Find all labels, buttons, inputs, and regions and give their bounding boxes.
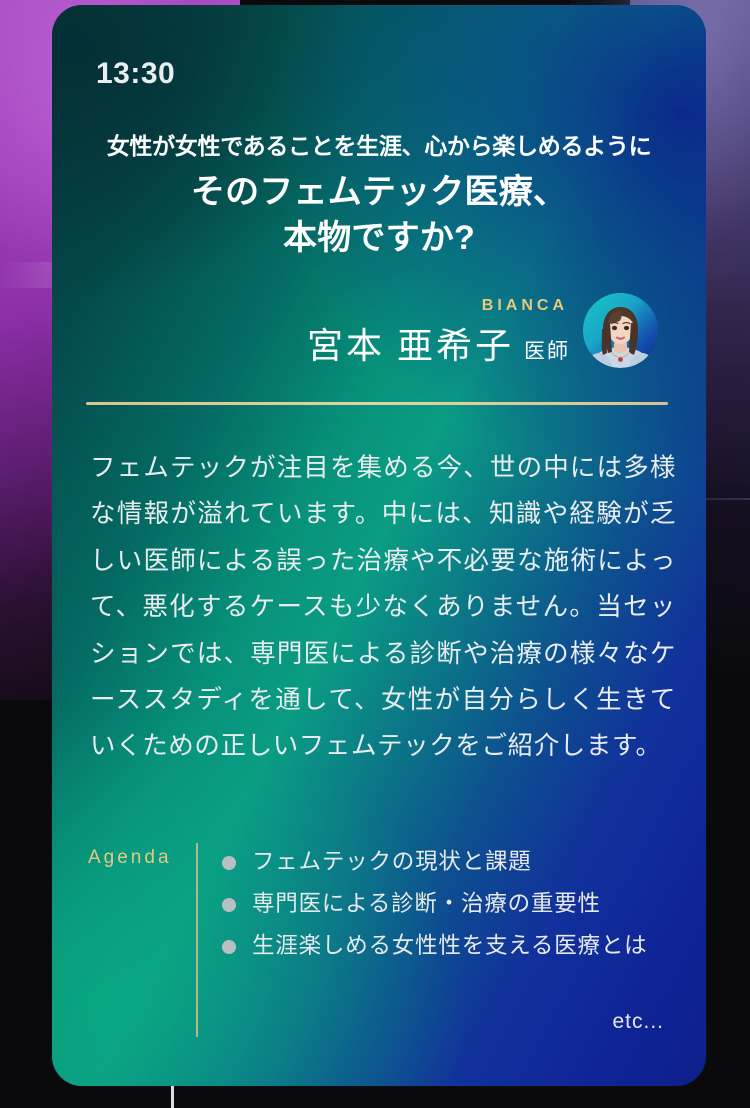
avatar-portrait-icon	[583, 293, 658, 368]
agenda-item-label: 専門医による診断・治療の重要性	[252, 883, 692, 925]
session-card-content: 13:30 女性が女性であることを生涯、心から楽しめるように そのフェムテック医…	[52, 5, 706, 1086]
session-subtitle: 女性が女性であることを生涯、心から楽しめるように	[52, 127, 706, 161]
speaker-name-row: 宮本 亜希子 医師	[307, 317, 570, 369]
session-card[interactable]: 13:30 女性が女性であることを生涯、心から楽しめるように そのフェムテック医…	[52, 5, 706, 1086]
session-description: フェムテックが注目を集める今、世の中には多様な情報が溢れています。中には、知識や…	[90, 445, 676, 770]
session-card-page: 13:30 女性が女性であることを生涯、心から楽しめるように そのフェムテック医…	[0, 0, 750, 1108]
gold-divider	[86, 402, 668, 405]
bullet-icon	[222, 898, 236, 912]
agenda-label: Agenda	[88, 847, 172, 869]
session-title-line-2: 本物ですか?	[52, 215, 706, 261]
agenda-etc: etc...	[612, 1010, 664, 1034]
agenda-vertical-rule	[196, 843, 198, 1037]
avatar	[583, 293, 658, 368]
agenda-item-label: フェムテックの現状と課題	[252, 841, 692, 883]
agenda-list: フェムテックの現状と課題 専門医による診断・治療の重要性 生涯楽しめる女性性を支…	[222, 841, 692, 967]
session-time: 13:30	[96, 57, 175, 91]
session-title: そのフェムテック医療、 本物ですか?	[52, 169, 706, 261]
list-item: 専門医による診断・治療の重要性	[222, 883, 692, 925]
session-title-line-1: そのフェムテック医療、	[191, 173, 567, 211]
bullet-icon	[222, 856, 236, 870]
bullet-icon	[222, 940, 236, 954]
speaker-role: 医師	[524, 335, 570, 365]
list-item: 生涯楽しめる女性性を支える医療とは	[222, 925, 692, 967]
timeline-tick	[171, 1086, 174, 1108]
speaker-block: BIANCA 宮本 亜希子 医師	[92, 293, 666, 373]
agenda-item-label: 生涯楽しめる女性性を支える医療とは	[252, 925, 692, 967]
speaker-name: 宮本 亜希子	[307, 317, 514, 369]
speaker-brand: BIANCA	[482, 297, 568, 315]
agenda-block: Agenda フェムテックの現状と課題 専門医による診断・治療の重要性 生涯楽し…	[52, 841, 706, 1051]
list-item: フェムテックの現状と課題	[222, 841, 692, 883]
